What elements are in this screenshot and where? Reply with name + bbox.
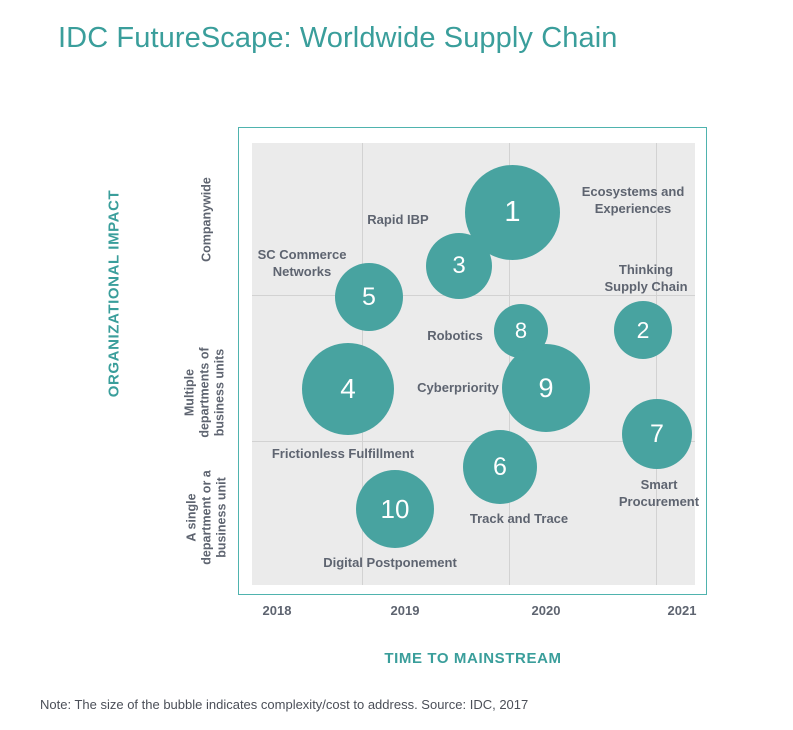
bubble-label-track-and-trace: Track and Trace: [459, 510, 579, 527]
bubble-5-value: 5: [362, 285, 376, 310]
bubble-10[interactable]: 10: [356, 470, 434, 548]
bubble-label-cyberpriority: Cyberpriority: [408, 379, 508, 396]
bubble-10-value: 10: [381, 496, 410, 522]
bubble-6-value: 6: [493, 455, 507, 480]
chart-footnote: Note: The size of the bubble indicates c…: [40, 697, 528, 712]
bubble-label-frictionless-fulfillment: Frictionless Fulfillment: [263, 445, 423, 462]
bubble-label-ecosystems-and-experiences: Ecosystems and Experiences: [558, 183, 708, 217]
y-axis-title: ORGANIZATIONAL IMPACT: [106, 164, 123, 424]
bubble-9-value: 9: [538, 375, 553, 402]
bubble-label-sc-commerce-networks: SC Commerce Networks: [247, 246, 357, 280]
page-title: IDC FutureScape: Worldwide Supply Chain: [58, 22, 617, 55]
bubble-8-value: 8: [515, 320, 527, 342]
bubble-3[interactable]: 3: [426, 233, 492, 299]
bubble-3-value: 3: [452, 254, 465, 278]
bubble-label-smart-procurement: Smart Procurement: [609, 476, 709, 510]
bubble-1-value: 1: [504, 198, 520, 227]
bubble-7-value: 7: [650, 422, 664, 447]
bubble-4-value: 4: [340, 375, 356, 403]
bubble-label-digital-postponement: Digital Postponement: [310, 554, 470, 571]
x-axis-title: TIME TO MAINSTREAM: [238, 650, 708, 667]
x-tick-label-2019: 2019: [365, 603, 445, 618]
bubble-2[interactable]: 2: [614, 301, 672, 359]
bubble-4[interactable]: 4: [302, 343, 394, 435]
bubble-label-rapid-ibp: Rapid IBP: [353, 211, 443, 228]
y-tick-label-single-department: A single department or a business unit: [185, 438, 230, 598]
x-tick-label-2021: 2021: [642, 603, 722, 618]
x-tick-label-2018: 2018: [237, 603, 317, 618]
bubble-label-robotics: Robotics: [415, 327, 495, 344]
x-tick-label-2020: 2020: [506, 603, 586, 618]
y-tick-label-companywide: Companywide: [200, 150, 215, 290]
bubble-2-value: 2: [637, 319, 650, 342]
bubble-label-thinking-supply-chain: Thinking Supply Chain: [581, 261, 711, 295]
bubble-6[interactable]: 6: [463, 430, 537, 504]
bubble-7[interactable]: 7: [622, 399, 692, 469]
bubble-9[interactable]: 9: [502, 344, 590, 432]
